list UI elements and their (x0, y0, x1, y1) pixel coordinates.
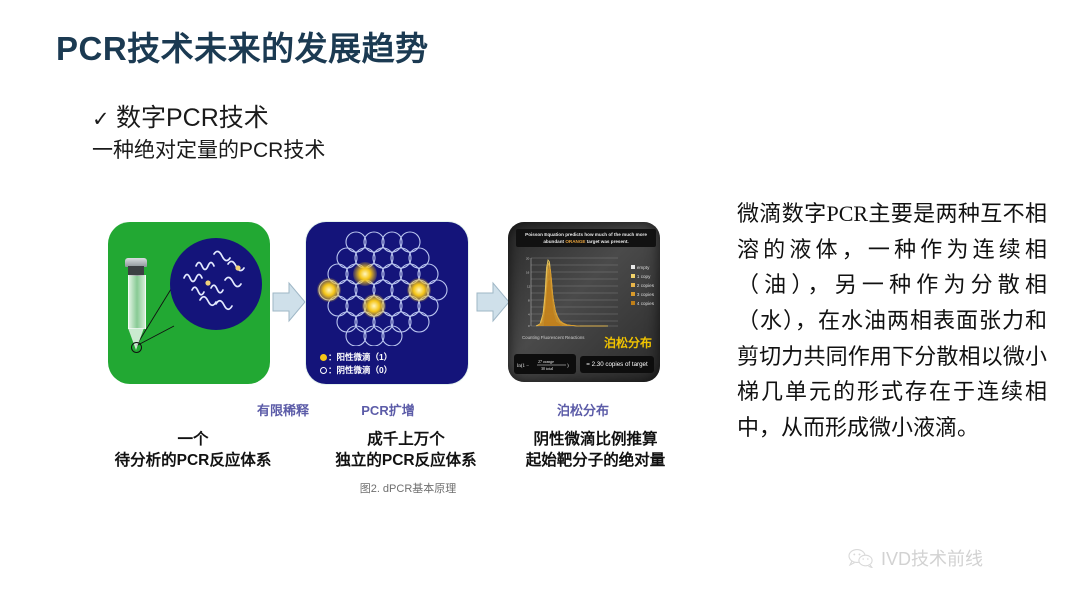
svg-text:12: 12 (527, 285, 531, 289)
positive-droplets (317, 262, 431, 318)
arrow-right-icon-2 (476, 280, 510, 324)
step-label-limited-dilution: 有限稀释 (228, 400, 338, 419)
bullet-item-primary: ✓数字PCR技术 (92, 103, 325, 134)
dna-squiggles-icon (170, 238, 262, 330)
poisson-equation-formula: ln(1 − 27 orange 30 total ) (514, 354, 576, 374)
panel-pcr-amplification: ：阳性微滴（1） ：阴性微滴（0） (306, 222, 468, 384)
pcr-tube-icon (125, 258, 147, 354)
caption-step-2-line1: 成千上万个 (306, 430, 506, 451)
poisson-x-axis-label: Counting Fluorescent Reactions (522, 335, 584, 340)
step-label-pcr-amplification: PCR扩增 (328, 400, 448, 419)
poisson-legend-item: 2 copies (631, 282, 654, 291)
bullet-block: ✓数字PCR技术 一种绝对定量的PCR技术 (92, 103, 325, 165)
negative-droplet-icon (320, 367, 327, 374)
svg-text:27 orange: 27 orange (538, 359, 554, 364)
droplet-legend: ：阳性微滴（1） ：阴性微滴（0） (320, 351, 392, 376)
legend-swatch-empty (631, 265, 635, 269)
poisson-legend-item: 1 copy (631, 273, 654, 282)
tube-body (128, 275, 146, 329)
svg-text:4: 4 (528, 313, 530, 317)
arrow-right-icon-1 (272, 280, 306, 324)
legend-label-2copies: 2 copies (637, 283, 654, 288)
panel-limited-dilution (108, 222, 270, 384)
legend-label-empty: empty (637, 265, 650, 270)
legend-negative-row: ：阴性微滴（0） (320, 364, 392, 376)
footer-account-name: IVD技术前线 (881, 545, 983, 571)
legend-swatch-2copies (631, 283, 635, 287)
check-icon: ✓ (92, 107, 116, 133)
poisson-legend-item: empty (631, 264, 654, 273)
footer-watermark: IVD技术前线 (848, 545, 983, 571)
poisson-legend-item: 3 copies (631, 291, 654, 300)
svg-text:): ) (567, 364, 569, 369)
poisson-legend-item: 4 copies (631, 300, 654, 309)
poisson-equation-box: ln(1 − 27 orange 30 total ) (514, 354, 576, 374)
dpcr-principle-figure: ：阳性微滴（1） ：阴性微滴（0） Poisson Equation predi… (88, 222, 688, 502)
poisson-chart: 2016 128 40 (518, 254, 622, 334)
svg-text:ln(1 −: ln(1 − (517, 364, 529, 369)
panel-poisson-distribution: Poisson Equation predicts how much of th… (508, 222, 660, 382)
legend-swatch-4copies (631, 301, 635, 305)
poisson-legend: empty 1 copy 2 copies 3 copies 4 copies (631, 264, 654, 309)
caption-step-1: 一个 待分析的PCR反应体系 (78, 430, 308, 472)
svg-text:16: 16 (526, 271, 530, 275)
legend-label-1copy: 1 copy (637, 274, 651, 279)
dna-magnified-circle (170, 238, 262, 330)
step-label-poisson-distribution: 泊松分布 (518, 400, 648, 419)
caption-step-1-line2: 待分析的PCR反应体系 (78, 451, 308, 472)
figure-caption: 图2. dPCR基本原理 (308, 480, 508, 496)
caption-step-3-line2: 起始靶分子的绝对量 (498, 451, 693, 472)
tube-sample-marker (131, 342, 142, 353)
headline-orange-word: ORANGE (565, 239, 585, 244)
legend-negative-label: ：阴性微滴（0） (328, 365, 392, 375)
legend-label-4copies: 4 copies (637, 301, 654, 306)
headline-part2: target was present. (585, 239, 628, 244)
poisson-annotation-cn: 泊松分布 (604, 334, 652, 351)
svg-text:30 total: 30 total (541, 366, 554, 371)
legend-positive-row: ：阳性微滴（1） (320, 351, 392, 363)
droplet-array (310, 228, 464, 346)
caption-step-2: 成千上万个 独立的PCR反应体系 (306, 430, 506, 472)
svg-text:0: 0 (528, 324, 530, 328)
wechat-icon (848, 548, 874, 568)
page-title: PCR技术未来的发展趋势 (56, 22, 429, 70)
caption-step-3-line1: 阴性微滴比例推算 (498, 430, 693, 451)
poisson-headline: Poisson Equation predicts how much of th… (516, 229, 656, 247)
caption-step-1-line1: 一个 (78, 430, 308, 451)
caption-step-2-line2: 独立的PCR反应体系 (306, 451, 506, 472)
positive-droplet-icon (320, 354, 327, 361)
bullet-item-secondary: 一种绝对定量的PCR技术 (92, 138, 325, 164)
bullet-primary-label: 数字PCR技术 (116, 104, 269, 132)
caption-step-3: 阴性微滴比例推算 起始靶分子的绝对量 (498, 430, 693, 472)
poisson-result-box: = 2.30 copies of target (580, 356, 654, 373)
svg-text:20: 20 (526, 257, 530, 261)
body-paragraph: 微滴数字PCR主要是两种互不相溶的液体，一种作为连续相（油），另一种作为分散相（… (737, 196, 1047, 445)
svg-text:8: 8 (528, 299, 530, 303)
legend-positive-label: ：阳性微滴（1） (328, 352, 392, 362)
legend-label-3copies: 3 copies (637, 292, 654, 297)
legend-swatch-1copy (631, 274, 635, 278)
legend-swatch-3copies (631, 292, 635, 296)
